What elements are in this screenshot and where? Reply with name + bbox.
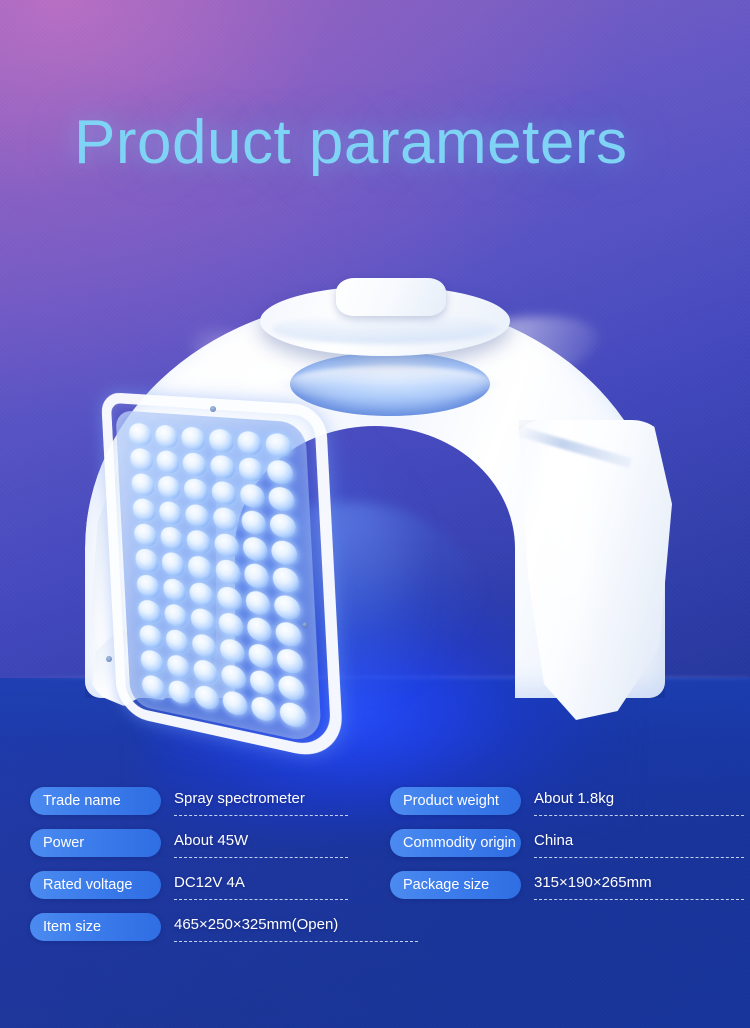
top-cap-button (336, 278, 446, 316)
spec-value-wrap: 465×250×325mm(Open) (174, 913, 390, 941)
spec-row: Commodity originChina (390, 828, 730, 858)
spec-value-wrap: 315×190×265mm (534, 871, 730, 899)
spec-value: About 45W (174, 829, 390, 853)
spec-underline (174, 941, 418, 942)
screw-dot (106, 656, 112, 662)
spec-underline (174, 815, 348, 816)
top-cap-rim (272, 314, 498, 344)
spec-value-wrap: DC12V 4A (174, 871, 390, 899)
spec-row: PowerAbout 45W (30, 828, 390, 858)
spec-label-pill: Commodity origin (390, 829, 521, 857)
spec-label-pill: Rated voltage (30, 871, 161, 899)
spec-label-pill: Package size (390, 871, 521, 899)
spec-value-wrap: About 45W (174, 829, 390, 857)
spec-row: Rated voltageDC12V 4A (30, 870, 390, 900)
spec-underline (534, 857, 744, 858)
spec-row: Product weightAbout 1.8kg (390, 786, 730, 816)
spec-underline (174, 899, 348, 900)
spec-underline (534, 899, 744, 900)
spec-value: China (534, 829, 730, 853)
spec-value: Spray spectrometer (174, 787, 390, 811)
spec-value-wrap: About 1.8kg (534, 787, 730, 815)
spec-value-wrap: China (534, 829, 730, 857)
spec-value-wrap: Spray spectrometer (174, 787, 390, 815)
spec-label-pill: Product weight (390, 787, 521, 815)
lamp-reflector-lip (282, 366, 498, 402)
screw-dot (302, 622, 308, 628)
led-panel-bezel (101, 392, 344, 764)
spec-value: DC12V 4A (174, 871, 390, 895)
spec-underline (174, 857, 348, 858)
spec-value: 465×250×325mm(Open) (174, 913, 390, 937)
spec-value: 315×190×265mm (534, 871, 730, 895)
spec-row: Item size465×250×325mm(Open) (30, 912, 390, 942)
screw-dot (210, 406, 216, 412)
right-leg-highlight (540, 440, 592, 690)
spec-value: About 1.8kg (534, 787, 730, 811)
spec-column-right: Product weightAbout 1.8kgCommodity origi… (390, 786, 730, 912)
spec-label-pill: Item size (30, 913, 161, 941)
page-title: Product parameters (74, 108, 627, 178)
product-image (60, 270, 690, 710)
product-parameters-page: Product parameters Trade n (0, 0, 750, 1028)
spec-column-left: Trade nameSpray spectrometerPowerAbout 4… (30, 786, 390, 954)
spec-label-pill: Trade name (30, 787, 161, 815)
spec-row: Trade nameSpray spectrometer (30, 786, 390, 816)
spec-label-pill: Power (30, 829, 161, 857)
spec-row: Package size315×190×265mm (390, 870, 730, 900)
spec-underline (534, 815, 744, 816)
